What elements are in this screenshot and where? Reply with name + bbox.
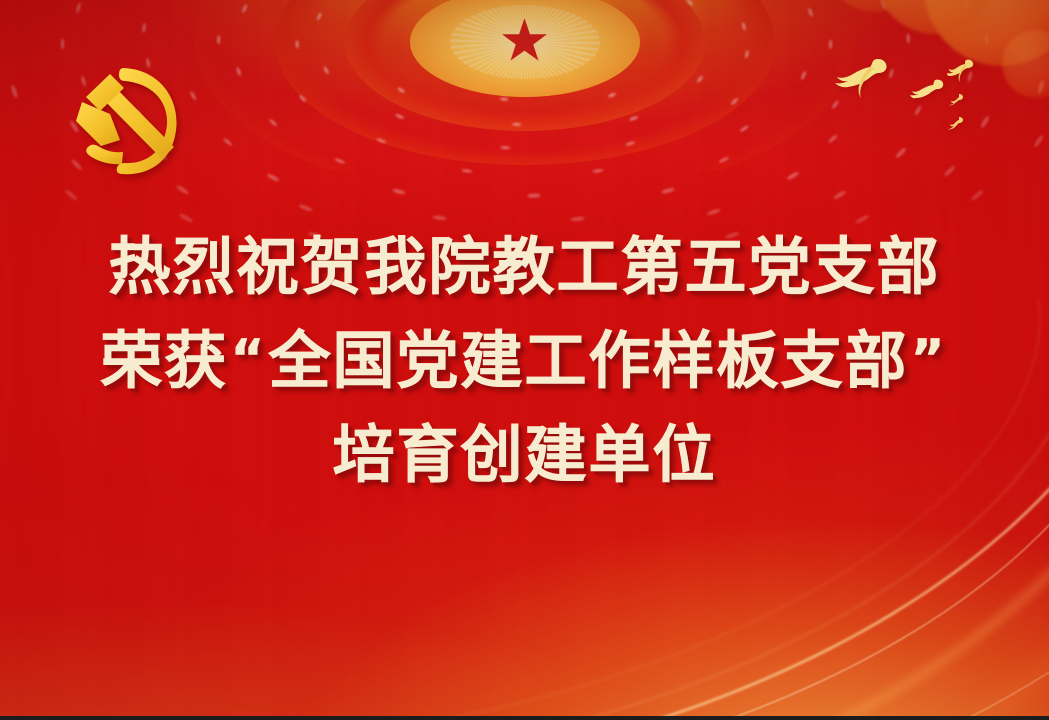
banner-poster: 热烈祝贺我院教工第五党支部 荣获“全国党建工作样板支部” 培育创建单位 bbox=[0, 0, 1049, 720]
headline-block: 热烈祝贺我院教工第五党支部 荣获“全国党建工作样板支部” 培育创建单位 bbox=[0, 236, 1049, 486]
headline-line-1: 热烈祝贺我院教工第五党支部 bbox=[0, 236, 1049, 298]
headline-line-2-prefix: 荣获 bbox=[100, 324, 228, 397]
headline-line-2-main: 全国党建工作样板支部 bbox=[269, 324, 909, 397]
dove-icon-tiny-mid bbox=[948, 93, 965, 110]
cpc-hammer-sickle-emblem-icon bbox=[62, 52, 194, 184]
headline-line-3: 培育创建单位 bbox=[0, 424, 1049, 486]
dove-icon-small-upper bbox=[947, 58, 977, 82]
dove-icon-large bbox=[834, 56, 896, 100]
headline-line-2: 荣获“全国党建工作样板支部” bbox=[0, 330, 1049, 392]
dove-icon-medium bbox=[910, 77, 948, 105]
bottom-border bbox=[0, 716, 1049, 720]
close-quote: ” bbox=[909, 329, 949, 389]
dove-icon-tiny-lower bbox=[947, 116, 966, 134]
open-quote: “ bbox=[228, 329, 268, 389]
